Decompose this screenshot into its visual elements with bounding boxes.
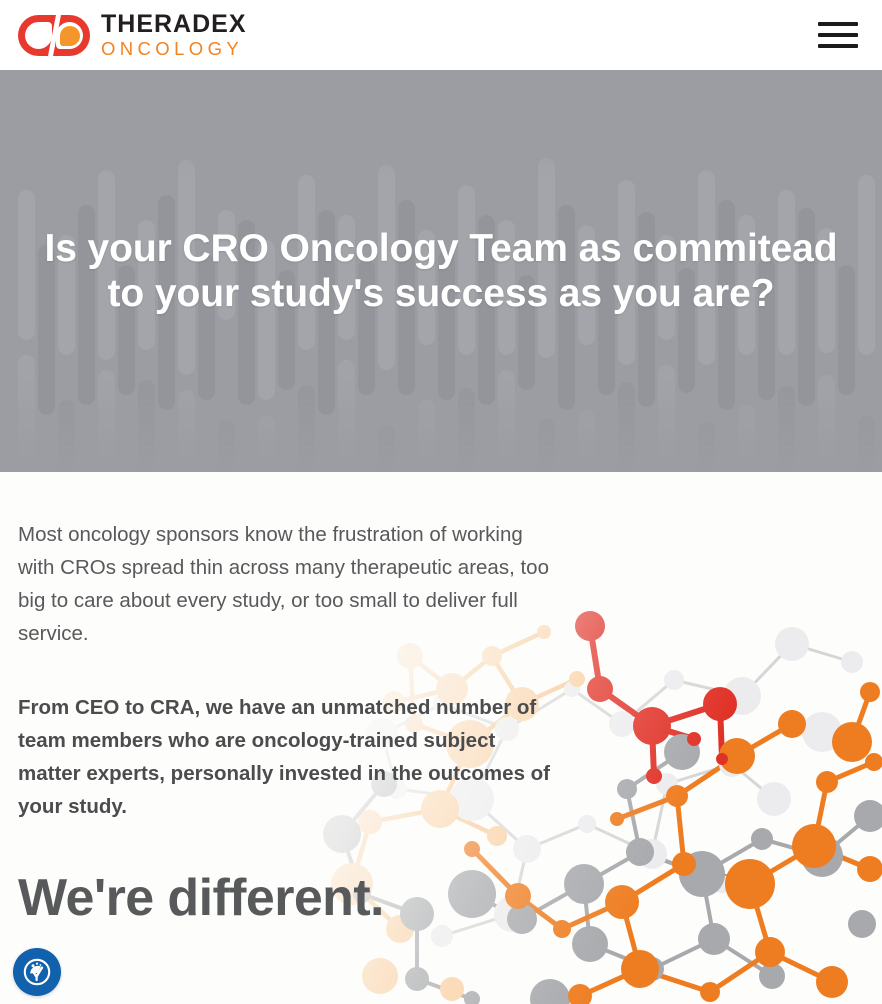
intro-paragraph-2: From CEO to CRA, we have an unmatched nu…	[18, 691, 560, 823]
accessibility-glyph-icon	[21, 956, 53, 988]
site-header: THERADEX ONCOLOGY	[0, 0, 882, 70]
hamburger-bar-2	[818, 33, 858, 37]
brand-logo-link[interactable]: THERADEX ONCOLOGY	[18, 11, 247, 59]
hero-banner: Is your CRO Oncology Team as commitead t…	[0, 70, 882, 472]
intro-section: Most oncology sponsors know the frustrat…	[0, 472, 882, 1004]
brand-name-theradex: THERADEX	[101, 12, 247, 37]
brand-name-oncology: ONCOLOGY	[101, 40, 247, 59]
hero-heading: Is your CRO Oncology Team as commitead t…	[26, 226, 856, 316]
hero-heading-line-2: your study's success as you are?	[155, 272, 775, 315]
hamburger-bar-1	[818, 22, 858, 26]
hamburger-bar-3	[818, 44, 858, 48]
accessibility-person-icon[interactable]	[13, 948, 61, 996]
hamburger-menu-icon[interactable]	[818, 18, 858, 52]
theradex-capsule-logo-icon	[18, 15, 90, 56]
intro-copy: Most oncology sponsors know the frustrat…	[0, 472, 560, 926]
section-heading-were-different: We're different.	[18, 870, 560, 926]
brand-wordmark: THERADEX ONCOLOGY	[101, 11, 247, 59]
intro-paragraph-1: Most oncology sponsors know the frustrat…	[18, 518, 560, 650]
